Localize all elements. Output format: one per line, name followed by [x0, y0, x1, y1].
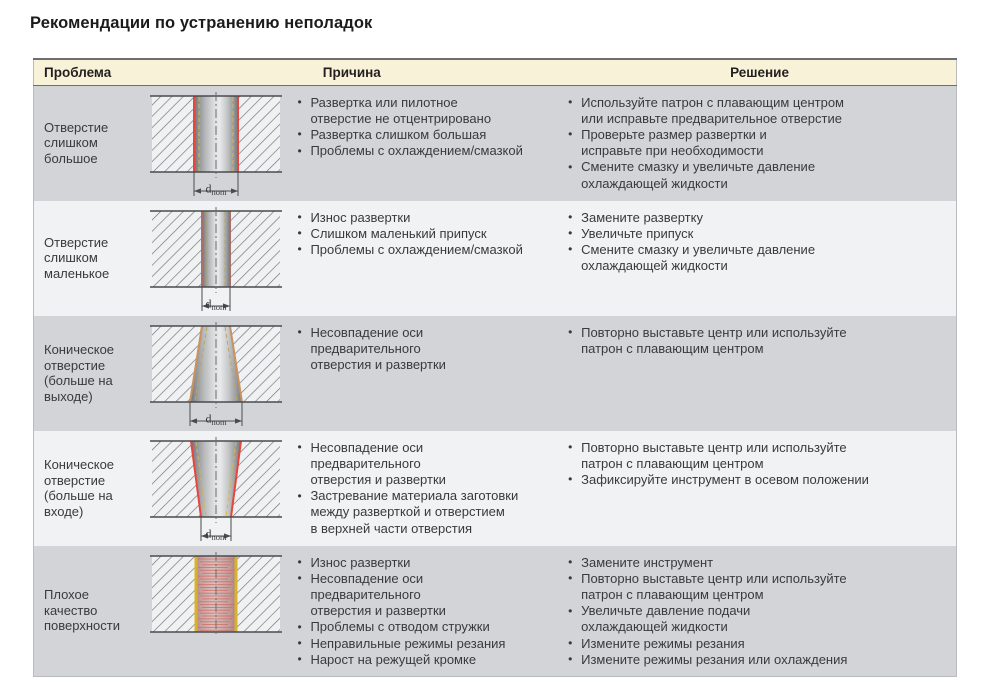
hole-too-large-section: dnom — [142, 92, 290, 196]
list-item: Развертка или пилотное отверстие не отце… — [296, 95, 555, 127]
figure-container: dnom — [142, 92, 290, 196]
dimension-dnom: dnom — [201, 517, 231, 541]
list-item: Увеличьте давление подачи охлаждающей жи… — [567, 603, 948, 635]
list-item: Проверьте размер развертки и исправьте п… — [567, 127, 948, 159]
cell-fix: Замените инструментПовторно выставьте це… — [563, 546, 956, 677]
list-item: Развертка слишком большая — [296, 127, 555, 143]
page-title: Рекомендации по устранению неполадок — [30, 14, 372, 33]
list-item: Смените смазку и увеличьте давление охла… — [567, 159, 948, 191]
list-item: Используйте патрон с плавающим центром и… — [567, 95, 948, 127]
solution-list: Повторно выставьте центр или используйте… — [567, 325, 948, 357]
dimension-dnom: dnom — [202, 287, 230, 311]
figure-container — [142, 552, 290, 648]
list-item: Неправильные режимы резания — [296, 636, 555, 652]
list-item: Замените инструмент — [567, 555, 948, 571]
list-item: Слишком маленький припуск — [296, 226, 555, 242]
cause-list: Развертка или пилотное отверстие не отце… — [296, 95, 555, 160]
cell-cause: Износ разверткиСлишком маленький припуск… — [292, 201, 563, 316]
cell-cause: Несовпадение оси предварительного отверс… — [292, 316, 563, 431]
table-row: Отверстие слишком маленькоеdnomИзнос раз… — [34, 201, 957, 316]
cell-figure: dnom — [140, 201, 292, 316]
solution-list: Замените разверткуУвеличьте припускСмени… — [567, 210, 948, 275]
cell-problem: Коническое отверстие (больше на входе) — [34, 431, 141, 546]
list-item: Повторно выставьте центр или используйте… — [567, 571, 948, 603]
list-item: Проблемы с охлаждением/смазкой — [296, 242, 555, 258]
list-item: Несовпадение оси предварительного отверс… — [296, 440, 555, 489]
solution-list: Используйте патрон с плавающим центром и… — [567, 95, 948, 192]
cause-list: Несовпадение оси предварительного отверс… — [296, 440, 555, 537]
dimension-label: dnom — [206, 526, 228, 541]
list-item: Замените развертку — [567, 210, 948, 226]
list-item: Износ развертки — [296, 210, 555, 226]
cell-problem: Коническое отверстие (больше на выходе) — [34, 316, 141, 431]
list-item: Увеличьте припуск — [567, 226, 948, 242]
list-item: Несовпадение оси предварительного отверс… — [296, 571, 555, 620]
list-item: Смените смазку и увеличьте давление охла… — [567, 242, 948, 274]
cell-problem: Плохое качество поверхности — [34, 546, 141, 677]
figure-container: dnom — [142, 437, 290, 541]
cause-list: Износ разверткиНесовпадение оси предвари… — [296, 555, 555, 668]
cell-fix: Используйте патрон с плавающим центром и… — [563, 85, 956, 201]
list-item: Проблемы с отводом стружки — [296, 619, 555, 635]
dimension-dnom: dnom — [190, 402, 242, 426]
cell-problem: Отверстие слишком маленькое — [34, 201, 141, 316]
column-header-cause: Причина — [140, 59, 563, 85]
cell-cause: Износ разверткиНесовпадение оси предвари… — [292, 546, 563, 677]
column-header-solution: Решение — [563, 59, 956, 85]
cell-problem: Отверстие слишком большое — [34, 85, 141, 201]
table-body: Отверстие слишком большоеdnomРазвертка и… — [34, 85, 957, 676]
dimension-dnom: dnom — [194, 172, 238, 196]
figure-container: dnom — [142, 207, 290, 311]
hole-too-small-section: dnom — [142, 207, 290, 311]
table-header-row: Проблема Причина Решение — [34, 59, 957, 85]
list-item: Нарост на режущей кромке — [296, 652, 555, 668]
cause-list: Несовпадение оси предварительного отверс… — [296, 325, 555, 374]
table-row: Плохое качество поверхностиИзнос разверт… — [34, 546, 957, 677]
cell-cause: Несовпадение оси предварительного отверс… — [292, 431, 563, 546]
list-item: Зафиксируйте инструмент в осевом положен… — [567, 472, 948, 488]
cell-figure — [140, 546, 292, 677]
list-item: Повторно выставьте центр или используйте… — [567, 440, 948, 472]
poor-surface-finish-section — [142, 552, 290, 648]
cell-fix: Повторно выставьте центр или используйте… — [563, 316, 956, 431]
column-header-problem: Проблема — [34, 59, 141, 85]
figure-container: dnom — [142, 322, 290, 426]
table-row: Коническое отверстие (больше на выходе)d… — [34, 316, 957, 431]
dimension-label: dnom — [206, 411, 228, 426]
list-item: Повторно выставьте центр или используйте… — [567, 325, 948, 357]
table-row: Коническое отверстие (больше на входе)dn… — [34, 431, 957, 546]
solution-list: Замените инструментПовторно выставьте це… — [567, 555, 948, 668]
dimension-label: dnom — [206, 181, 228, 196]
list-item: Проблемы с охлаждением/смазкой — [296, 143, 555, 159]
list-item: Застревание материала заготовки между ра… — [296, 488, 555, 537]
cell-fix: Замените разверткуУвеличьте припускСмени… — [563, 201, 956, 316]
list-item: Измените режимы резания — [567, 636, 948, 652]
cell-figure: dnom — [140, 431, 292, 546]
troubleshooting-table: Проблема Причина Решение Отверстие слишк… — [33, 58, 957, 677]
tapered-hole-wider-at-entry-section: dnom — [142, 437, 290, 541]
tapered-hole-wider-at-exit-section: dnom — [142, 322, 290, 426]
cell-figure: dnom — [140, 85, 292, 201]
cell-fix: Повторно выставьте центр или используйте… — [563, 431, 956, 546]
cell-figure: dnom — [140, 316, 292, 431]
dimension-label: dnom — [206, 296, 228, 311]
cause-list: Износ разверткиСлишком маленький припуск… — [296, 210, 555, 259]
list-item: Несовпадение оси предварительного отверс… — [296, 325, 555, 374]
list-item: Измените режимы резания или охлаждения — [567, 652, 948, 668]
list-item: Износ развертки — [296, 555, 555, 571]
table-row: Отверстие слишком большоеdnomРазвертка и… — [34, 85, 957, 201]
solution-list: Повторно выставьте центр или используйте… — [567, 440, 948, 489]
cell-cause: Развертка или пилотное отверстие не отце… — [292, 85, 563, 201]
